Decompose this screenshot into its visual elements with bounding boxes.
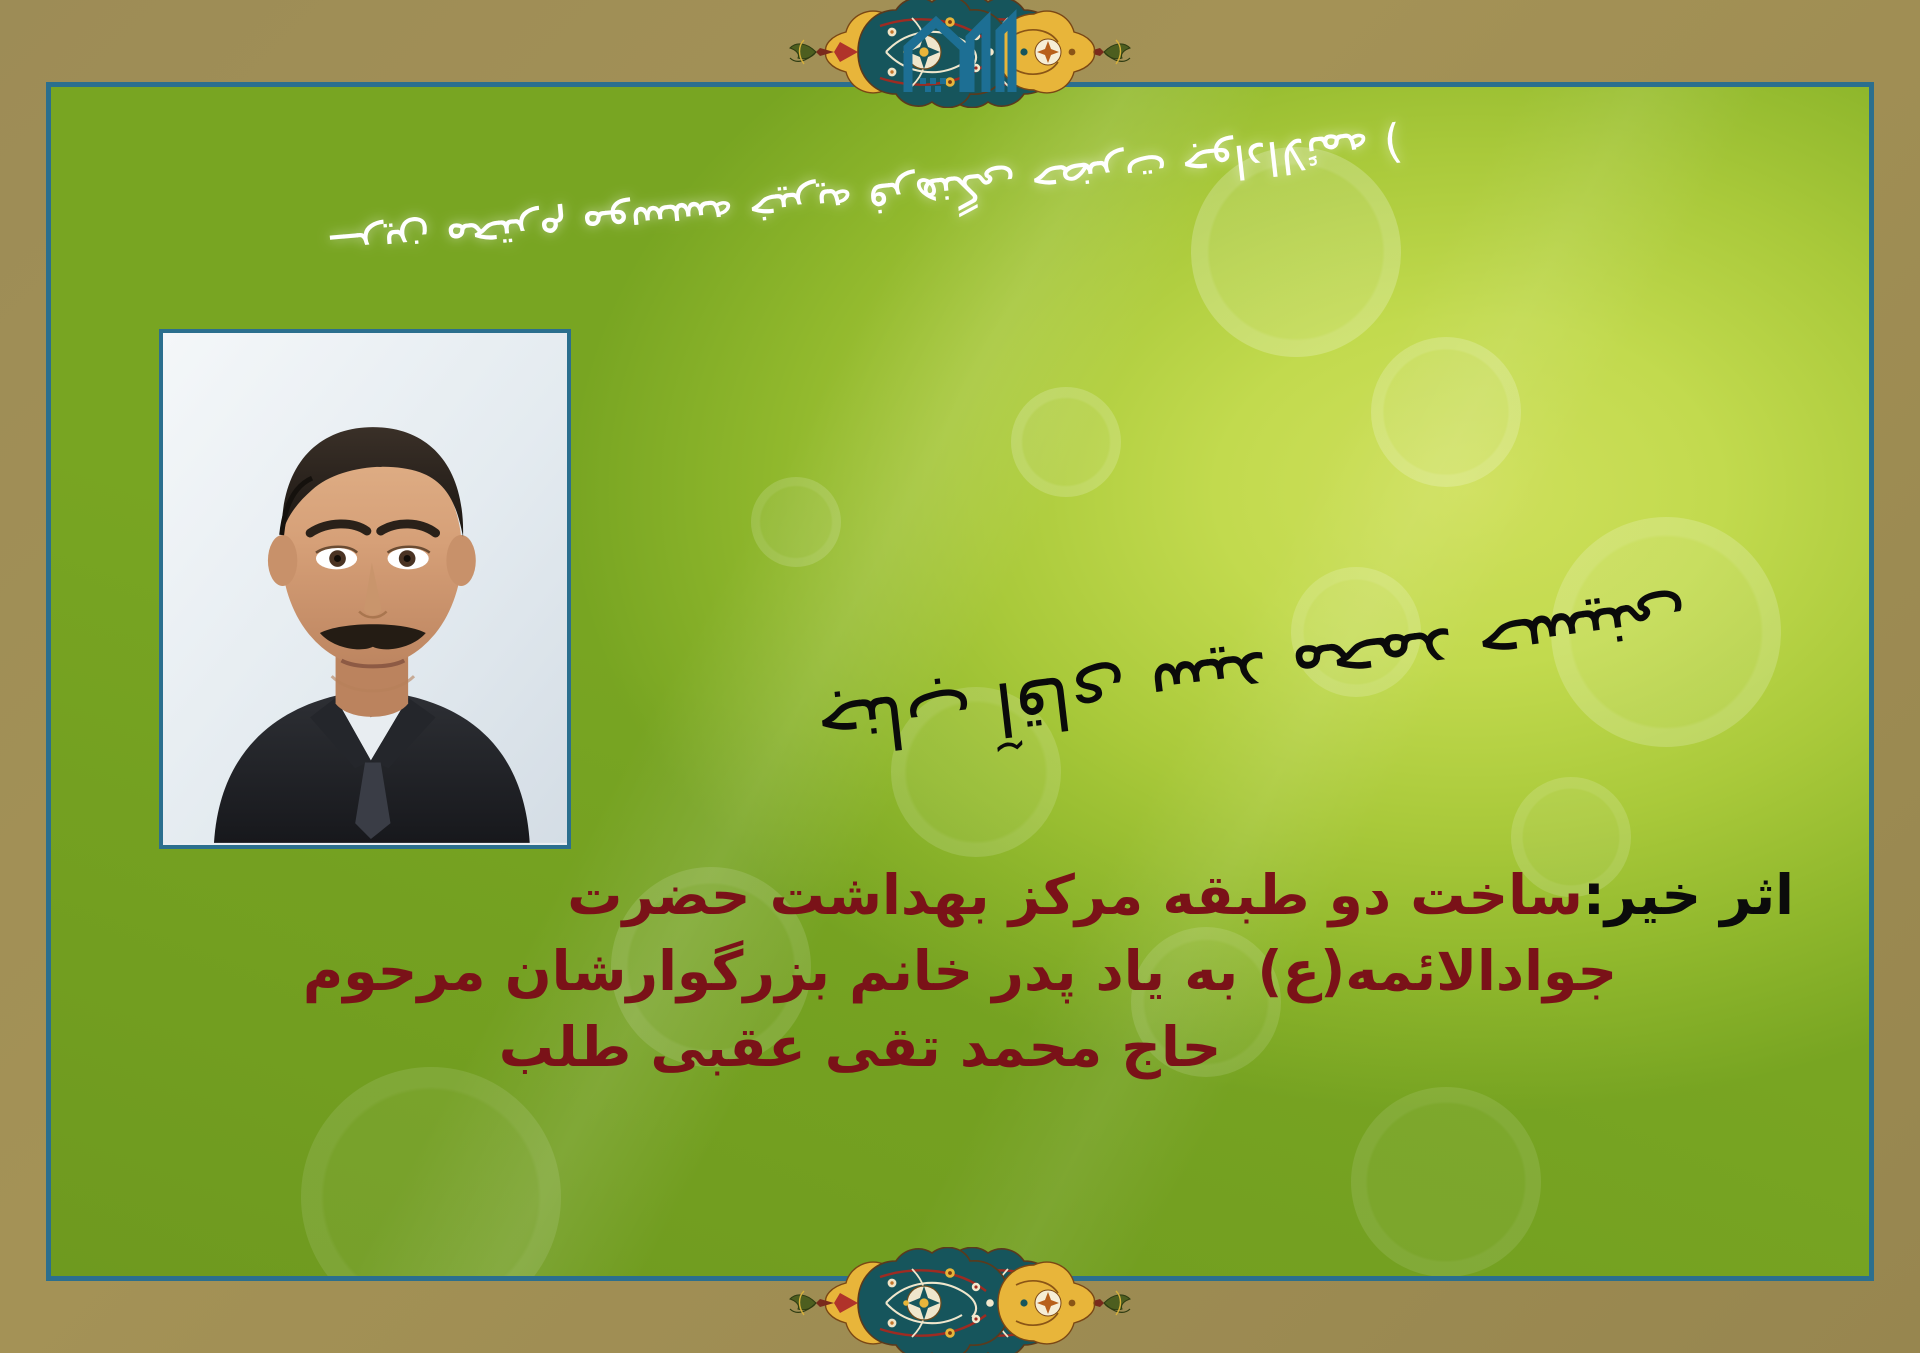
donation-line-3: حاج محمد تقی عقبی طلب: [120, 1010, 1800, 1086]
javad-al-aemmeh-institute-logo-icon: [900, 8, 1020, 94]
islamic-floral-medallion-bottom-icon: [680, 1247, 1240, 1353]
donation-label: اثر خیر:: [1583, 863, 1794, 927]
honoree-name-calligraphy: جناب آقای سید محمد حسینی: [750, 560, 1750, 750]
honoree-name-text: جناب آقای سید محمد حسینی: [813, 580, 1694, 771]
bokeh-circle: [301, 1067, 561, 1276]
bokeh-circle: [751, 477, 841, 567]
svg-text:جناب آقای سید محمد حسینی: جناب آقای سید محمد حسینی: [813, 580, 1694, 771]
frame-line-right: [1869, 82, 1874, 1281]
donation-line-1: اثر خیر:ساخت دو طبقه مرکز بهداشت حضرت: [120, 858, 1800, 934]
bokeh-circle: [1351, 1087, 1541, 1276]
bokeh-circle: [1371, 337, 1521, 487]
donation-description: اثر خیر:ساخت دو طبقه مرکز بهداشت حضرت جو…: [120, 858, 1800, 1086]
frame-line-left: [46, 82, 51, 1281]
honoree-photo: [159, 329, 571, 849]
donation-line-1-text: ساخت دو طبقه مرکز بهداشت حضرت: [567, 863, 1583, 927]
header-calligraphy: خیّـــرین محترم موسسه خیریه فرهنگی حضرت …: [300, 118, 1420, 268]
donation-line-2: جوادالائمه(ع) به یاد پدر خانم بزرگوارشان…: [120, 934, 1800, 1010]
certificate-root: خیّـــرین محترم موسسه خیریه فرهنگی حضرت …: [0, 0, 1920, 1353]
bokeh-circle: [1011, 387, 1121, 497]
